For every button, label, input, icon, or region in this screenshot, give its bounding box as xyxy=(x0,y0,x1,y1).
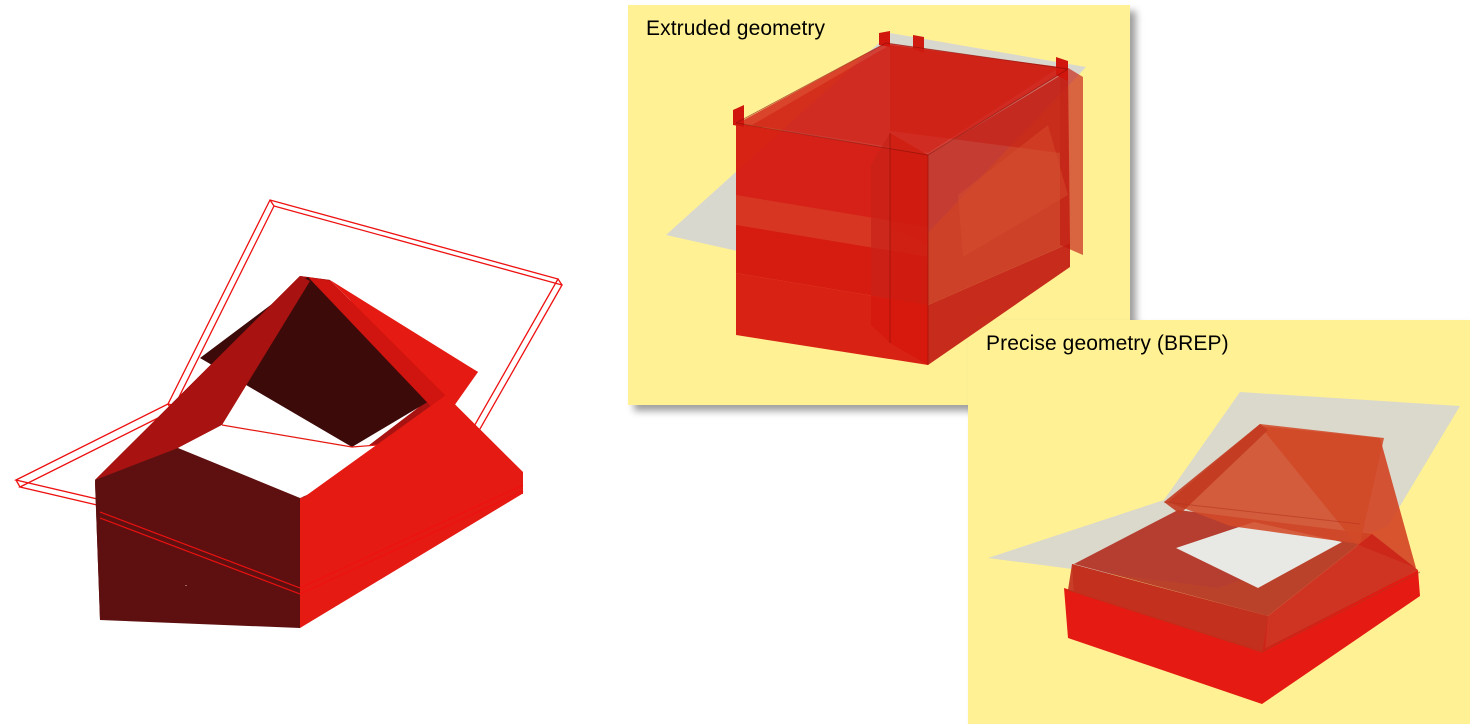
solid-wedge-body xyxy=(95,276,523,628)
rim-spike-2 xyxy=(879,31,890,47)
callout-panel-brep[interactable]: Precise geometry (BREP) xyxy=(968,320,1470,724)
main-3d-figure xyxy=(0,0,630,724)
panel-title-extruded: Extruded geometry xyxy=(646,17,825,41)
brep-geometry-illustration xyxy=(968,320,1470,724)
panel-title-brep: Precise geometry (BREP) xyxy=(986,332,1229,356)
screenshot-canvas: Extruded geometry xyxy=(0,0,1470,724)
